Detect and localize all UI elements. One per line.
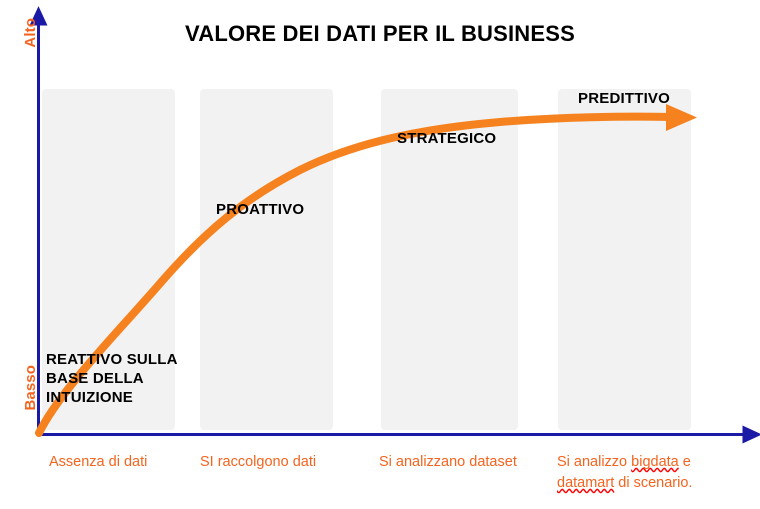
caption-text-part: e [679, 454, 691, 470]
page-title: VALORE DEI DATI PER IL BUSINESS [0, 21, 760, 47]
stage-label-predittivo: PREDITTIVO [578, 90, 670, 107]
stage-box-predittivo [558, 89, 691, 430]
stage-label-reattivo: REATTIVO SULLA BASE DELLA INTUIZIONE [46, 350, 196, 407]
misspelled-word-datamart: datamart [557, 475, 614, 491]
stage-box-proattivo [200, 89, 333, 430]
caption-text-part: di scenario. [614, 475, 692, 491]
category-caption-reattivo: Assenza di dati [49, 452, 147, 473]
caption-text-part: Si analizzo [557, 454, 631, 470]
category-caption-proattivo: SI raccolgono dati [200, 452, 316, 473]
category-caption-strategico: Si analizzano dataset [379, 452, 517, 473]
misspelled-word-bigdata: bigdata [631, 454, 679, 470]
stage-label-strategico: STRATEGICO [397, 130, 496, 147]
category-caption-predittivo: Si analizzo bigdata e datamart di scenar… [557, 452, 742, 494]
stage-label-proattivo: PROATTIVO [216, 201, 304, 218]
chart-canvas: Alto Basso VALORE DEI DATI PER IL BUSINE… [0, 0, 760, 509]
y-axis-bottom-label: Basso [22, 365, 39, 411]
